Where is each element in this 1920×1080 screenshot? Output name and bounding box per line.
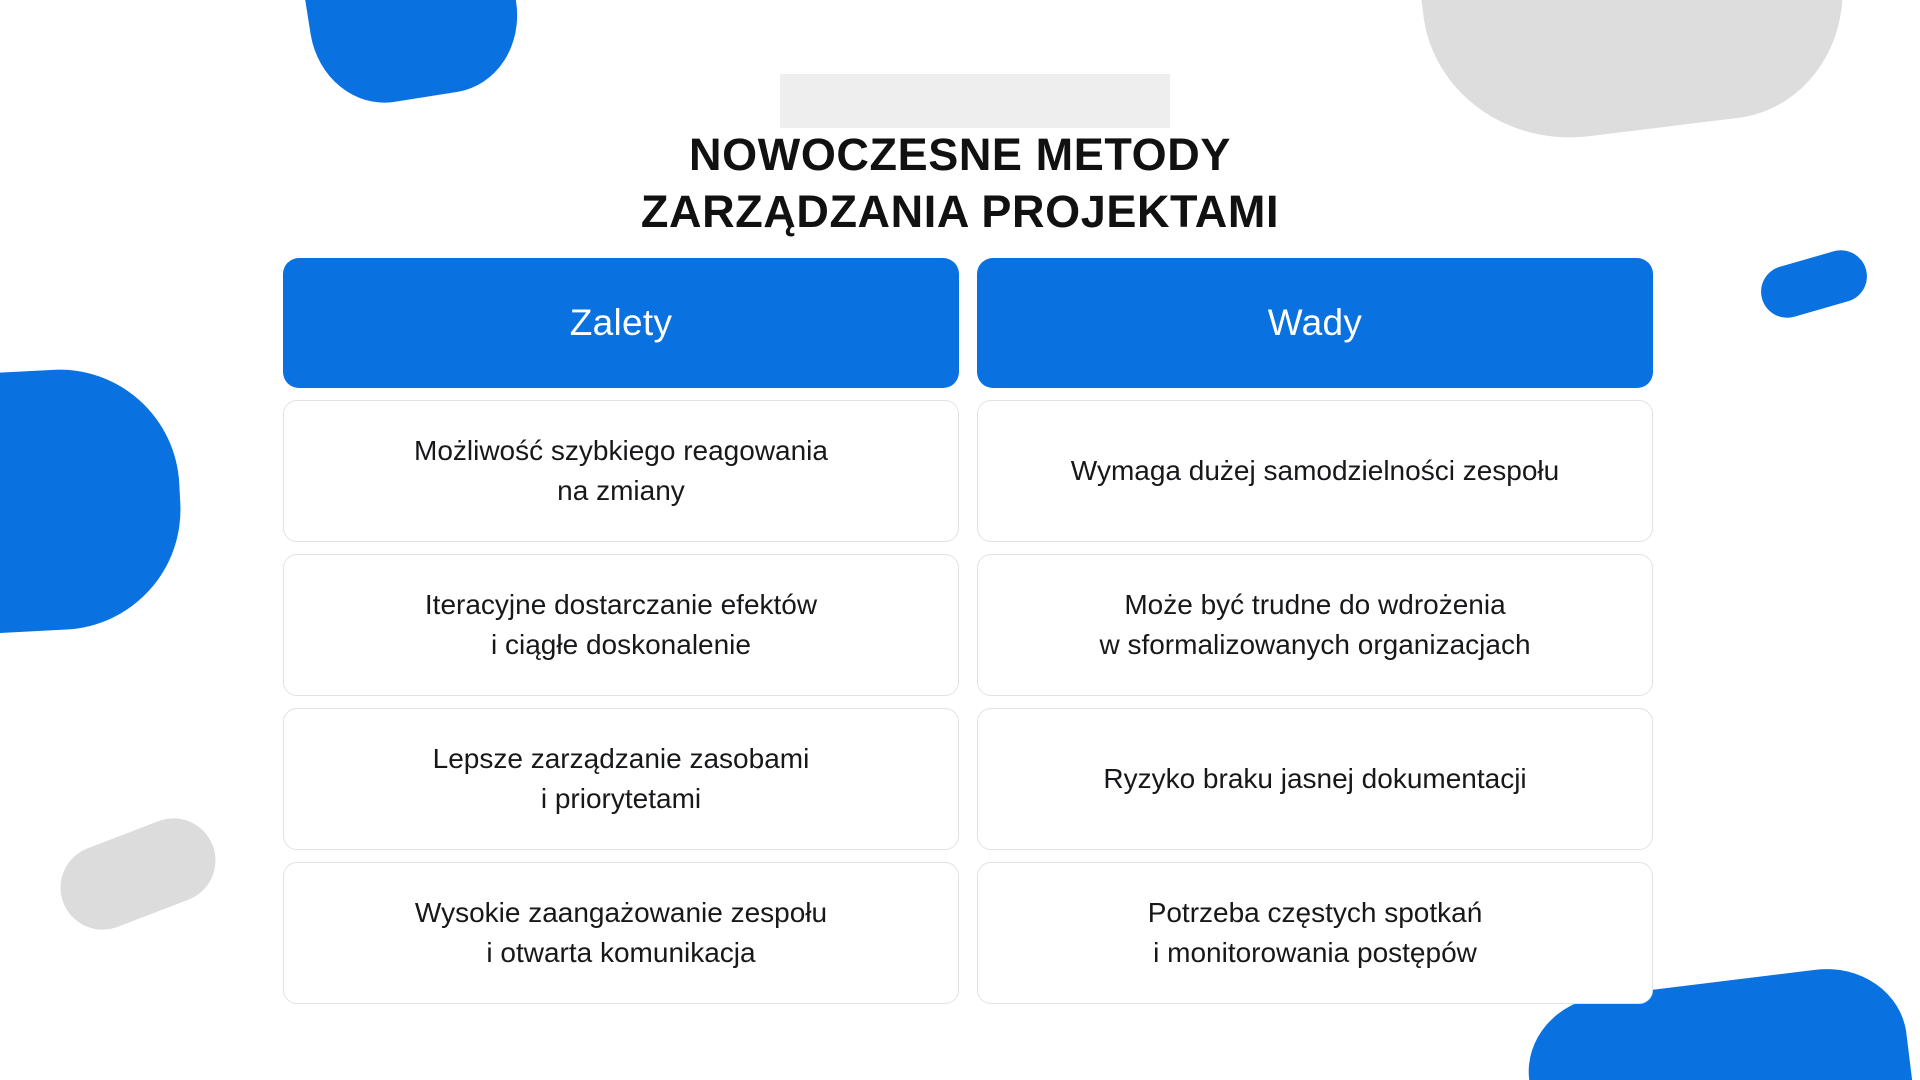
table-row: Może być trudne do wdrożenia w sformaliz… — [977, 554, 1653, 696]
cell-text-pros-2: Iteracyjne dostarczanie efektów i ciągłe… — [425, 585, 817, 665]
table-column-cons: Wady Wymaga dużej samodzielności zespołu… — [977, 258, 1653, 1004]
cell-text-cons-3: Ryzyko braku jasnej dokumentacji — [1103, 759, 1526, 799]
title-grey-band — [780, 74, 1170, 128]
cell-text-pros-4: Wysokie zaangażowanie zespołu i otwarta … — [415, 893, 827, 973]
table-row: Iteracyjne dostarczanie efektów i ciągłe… — [283, 554, 959, 696]
left-blue-blob-shape — [0, 364, 187, 641]
slide-canvas: NOWOCZESNE METODY ZARZĄDZANIA PROJEKTAMI… — [0, 0, 1920, 1080]
column-header-pros: Zalety — [283, 258, 959, 388]
table-row: Ryzyko braku jasnej dokumentacji — [977, 708, 1653, 850]
table-row: Wymaga dużej samodzielności zespołu — [977, 400, 1653, 542]
cell-text-cons-4: Potrzeba częstych spotkań i monitorowani… — [1148, 893, 1483, 973]
page-title-line-1: NOWOCZESNE METODY — [0, 126, 1920, 183]
cell-text-cons-2: Może być trudne do wdrożenia w sformaliz… — [1099, 585, 1530, 665]
table-row: Potrzeba częstych spotkań i monitorowani… — [977, 862, 1653, 1004]
cell-text-pros-3: Lepsze zarządzanie zasobami i prioryteta… — [433, 739, 810, 819]
cell-text-cons-1: Wymaga dużej samodzielności zespołu — [1071, 451, 1559, 491]
table-row: Wysokie zaangażowanie zespołu i otwarta … — [283, 862, 959, 1004]
page-title: NOWOCZESNE METODY ZARZĄDZANIA PROJEKTAMI — [0, 126, 1920, 240]
table-column-pros: Zalety Możliwość szybkiego reagowania na… — [283, 258, 959, 1004]
comparison-table: Zalety Możliwość szybkiego reagowania na… — [283, 258, 1653, 1004]
column-header-cons: Wady — [977, 258, 1653, 388]
cell-text-pros-1: Możliwość szybkiego reagowania na zmiany — [414, 431, 828, 511]
right-blue-pill-shape — [1755, 244, 1873, 324]
page-title-line-2: ZARZĄDZANIA PROJEKTAMI — [0, 183, 1920, 240]
bottom-left-grey-pill-shape — [48, 806, 227, 942]
top-left-blue-blob-shape — [293, 0, 528, 113]
table-row: Możliwość szybkiego reagowania na zmiany — [283, 400, 959, 542]
table-row: Lepsze zarządzanie zasobami i prioryteta… — [283, 708, 959, 850]
